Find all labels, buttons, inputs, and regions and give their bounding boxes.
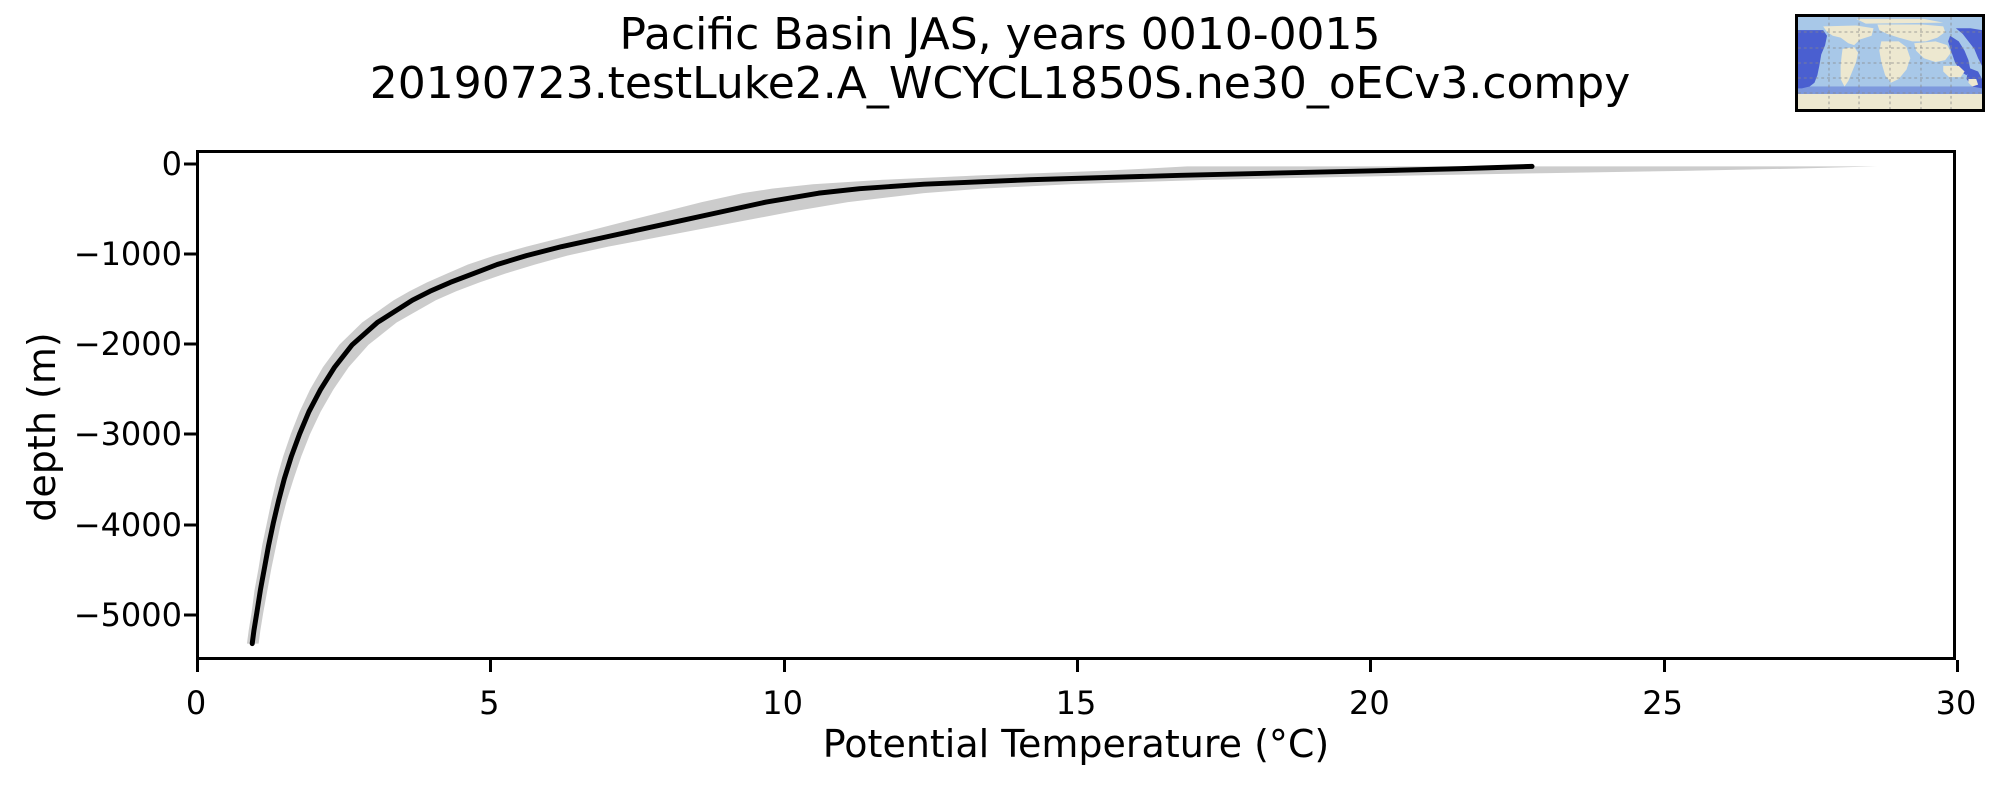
x-axis-label: Potential Temperature (°C) bbox=[196, 722, 1956, 766]
y-tick-mark bbox=[184, 252, 196, 255]
x-tick-label: 20 bbox=[1349, 684, 1390, 722]
x-tick-mark bbox=[196, 660, 199, 672]
x-tick-label: 15 bbox=[1056, 684, 1097, 722]
profile-plot bbox=[199, 153, 1953, 657]
y-tick-label: −2000 bbox=[74, 325, 182, 363]
x-tick-mark bbox=[1076, 660, 1079, 672]
figure-title: Pacific Basin JAS, years 0010-0015 20190… bbox=[0, 10, 2000, 109]
y-tick-mark bbox=[184, 162, 196, 165]
y-tick-mark bbox=[184, 343, 196, 346]
x-tick-label: 10 bbox=[762, 684, 803, 722]
std-deviation-band bbox=[247, 166, 1877, 643]
x-axis-ticks: 051015202530 bbox=[196, 660, 1956, 730]
x-tick-mark bbox=[1663, 660, 1666, 672]
y-tick-label: −4000 bbox=[74, 506, 182, 544]
title-line-2: 20190723.testLuke2.A_WCYCL1850S.ne30_oEC… bbox=[0, 59, 2000, 108]
y-tick-label: −5000 bbox=[74, 596, 182, 634]
x-tick-label: 5 bbox=[479, 684, 499, 722]
x-tick-mark bbox=[1369, 660, 1372, 672]
x-tick-label: 25 bbox=[1642, 684, 1683, 722]
region-map-inset bbox=[1795, 14, 1985, 112]
y-tick-label: −1000 bbox=[74, 235, 182, 273]
x-tick-label: 30 bbox=[1936, 684, 1977, 722]
y-tick-mark bbox=[184, 613, 196, 616]
y-tick-label: −3000 bbox=[74, 415, 182, 453]
plot-axes-frame bbox=[196, 150, 1956, 660]
title-line-1: Pacific Basin JAS, years 0010-0015 bbox=[0, 10, 2000, 59]
x-tick-mark bbox=[489, 660, 492, 672]
x-tick-mark bbox=[783, 660, 786, 672]
y-tick-mark bbox=[184, 433, 196, 436]
x-tick-label: 0 bbox=[186, 684, 206, 722]
world-map-svg bbox=[1798, 17, 1982, 109]
mean-temperature-line bbox=[252, 166, 1532, 643]
y-axis-label: depth (m) bbox=[20, 267, 64, 587]
y-tick-mark bbox=[184, 523, 196, 526]
x-tick-mark bbox=[1956, 660, 1959, 672]
y-tick-label: 0 bbox=[162, 145, 182, 183]
